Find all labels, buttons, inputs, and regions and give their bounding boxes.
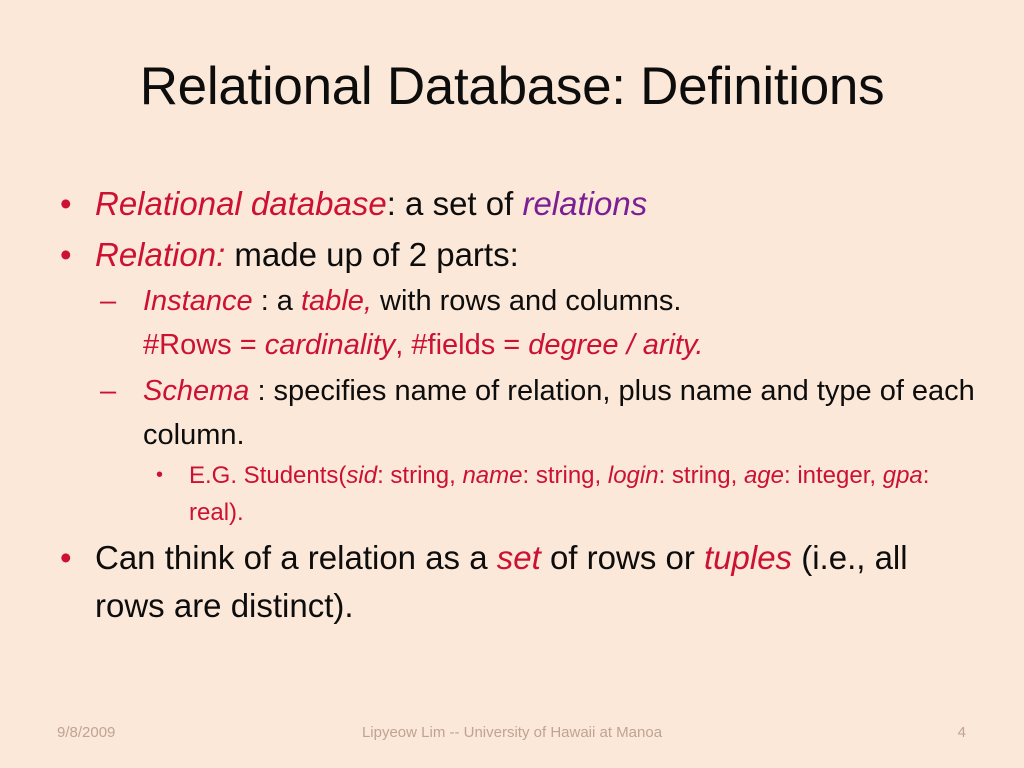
text-can-think-of-relation: Can think of a relation as a xyxy=(95,539,497,576)
term-relational-database: Relational database xyxy=(95,185,387,222)
slide-footer: 9/8/2009 Lipyeow Lim -- University of Ha… xyxy=(0,718,1024,748)
bullet-marker-dot-icon: • xyxy=(156,457,163,494)
bullet-relation: • Relation: made up of 2 parts: – Instan… xyxy=(52,231,982,531)
text-with-rows-and-columns: with rows and columns. xyxy=(372,285,681,317)
bullet-marker-dot-icon: • xyxy=(60,231,72,279)
term-set: set xyxy=(497,539,541,576)
bullet-list-level-1: • Relational database: a set of relation… xyxy=(52,180,982,630)
term-degree-arity: degree / arity. xyxy=(528,329,703,361)
text-colon-a: : a xyxy=(253,285,301,317)
text-made-up-of-2-parts: made up of 2 parts: xyxy=(225,236,519,273)
footer-attribution: Lipyeow Lim -- University of Hawaii at M… xyxy=(0,718,1024,748)
bullet-example-students: • E.G. Students(sid: string, name: strin… xyxy=(143,457,982,531)
bullet-relation-as-set: • Can think of a relation as a set of ro… xyxy=(52,534,982,630)
type-name-string: : string, xyxy=(523,462,608,489)
term-schema: Schema xyxy=(143,375,249,407)
bullet-schema: – Schema : specifies name of relation, p… xyxy=(95,369,982,531)
bullet-marker-dot-icon: • xyxy=(60,180,72,228)
bullet-list-level-3: • E.G. Students(sid: string, name: strin… xyxy=(143,457,982,531)
type-sid-string: : string, xyxy=(377,462,462,489)
bullet-marker-dash-icon: – xyxy=(100,279,116,323)
term-tuples: tuples xyxy=(704,539,792,576)
text-schema-description: : specifies name of relation, plus name … xyxy=(143,375,975,451)
term-relations: relations xyxy=(522,185,647,222)
field-login: login xyxy=(608,462,659,489)
text-rows-equals: #Rows = xyxy=(143,329,265,361)
slide: Relational Database: Definitions • Relat… xyxy=(0,0,1024,768)
term-cardinality: cardinality xyxy=(265,329,396,361)
term-instance: Instance xyxy=(143,285,253,317)
field-sid: sid xyxy=(346,462,377,489)
term-table: table, xyxy=(301,285,372,317)
footer-page-number: 4 xyxy=(958,718,966,748)
bullet-marker-dash-icon: – xyxy=(100,369,116,413)
text-a-set-of: : a set of xyxy=(387,185,523,222)
slide-body: • Relational database: a set of relation… xyxy=(52,180,982,633)
term-relation: Relation: xyxy=(95,236,225,273)
instance-second-line: #Rows = cardinality, #fields = degree / … xyxy=(143,323,982,367)
bullet-relational-database: • Relational database: a set of relation… xyxy=(52,180,982,228)
bullet-marker-dot-icon: • xyxy=(60,534,72,582)
field-name: name xyxy=(462,462,522,489)
bullet-instance: – Instance : a table, with rows and colu… xyxy=(95,279,982,367)
text-of-rows-or: of rows or xyxy=(541,539,704,576)
field-age: age xyxy=(744,462,784,489)
bullet-list-level-2: – Instance : a table, with rows and colu… xyxy=(95,279,982,531)
type-login-string: : string, xyxy=(659,462,744,489)
type-age-integer: : integer, xyxy=(784,462,883,489)
page-title: Relational Database: Definitions xyxy=(0,56,1024,118)
text-eg-students-open: E.G. Students( xyxy=(189,462,346,489)
field-gpa: gpa xyxy=(883,462,923,489)
text-fields-equals: , #fields = xyxy=(395,329,528,361)
